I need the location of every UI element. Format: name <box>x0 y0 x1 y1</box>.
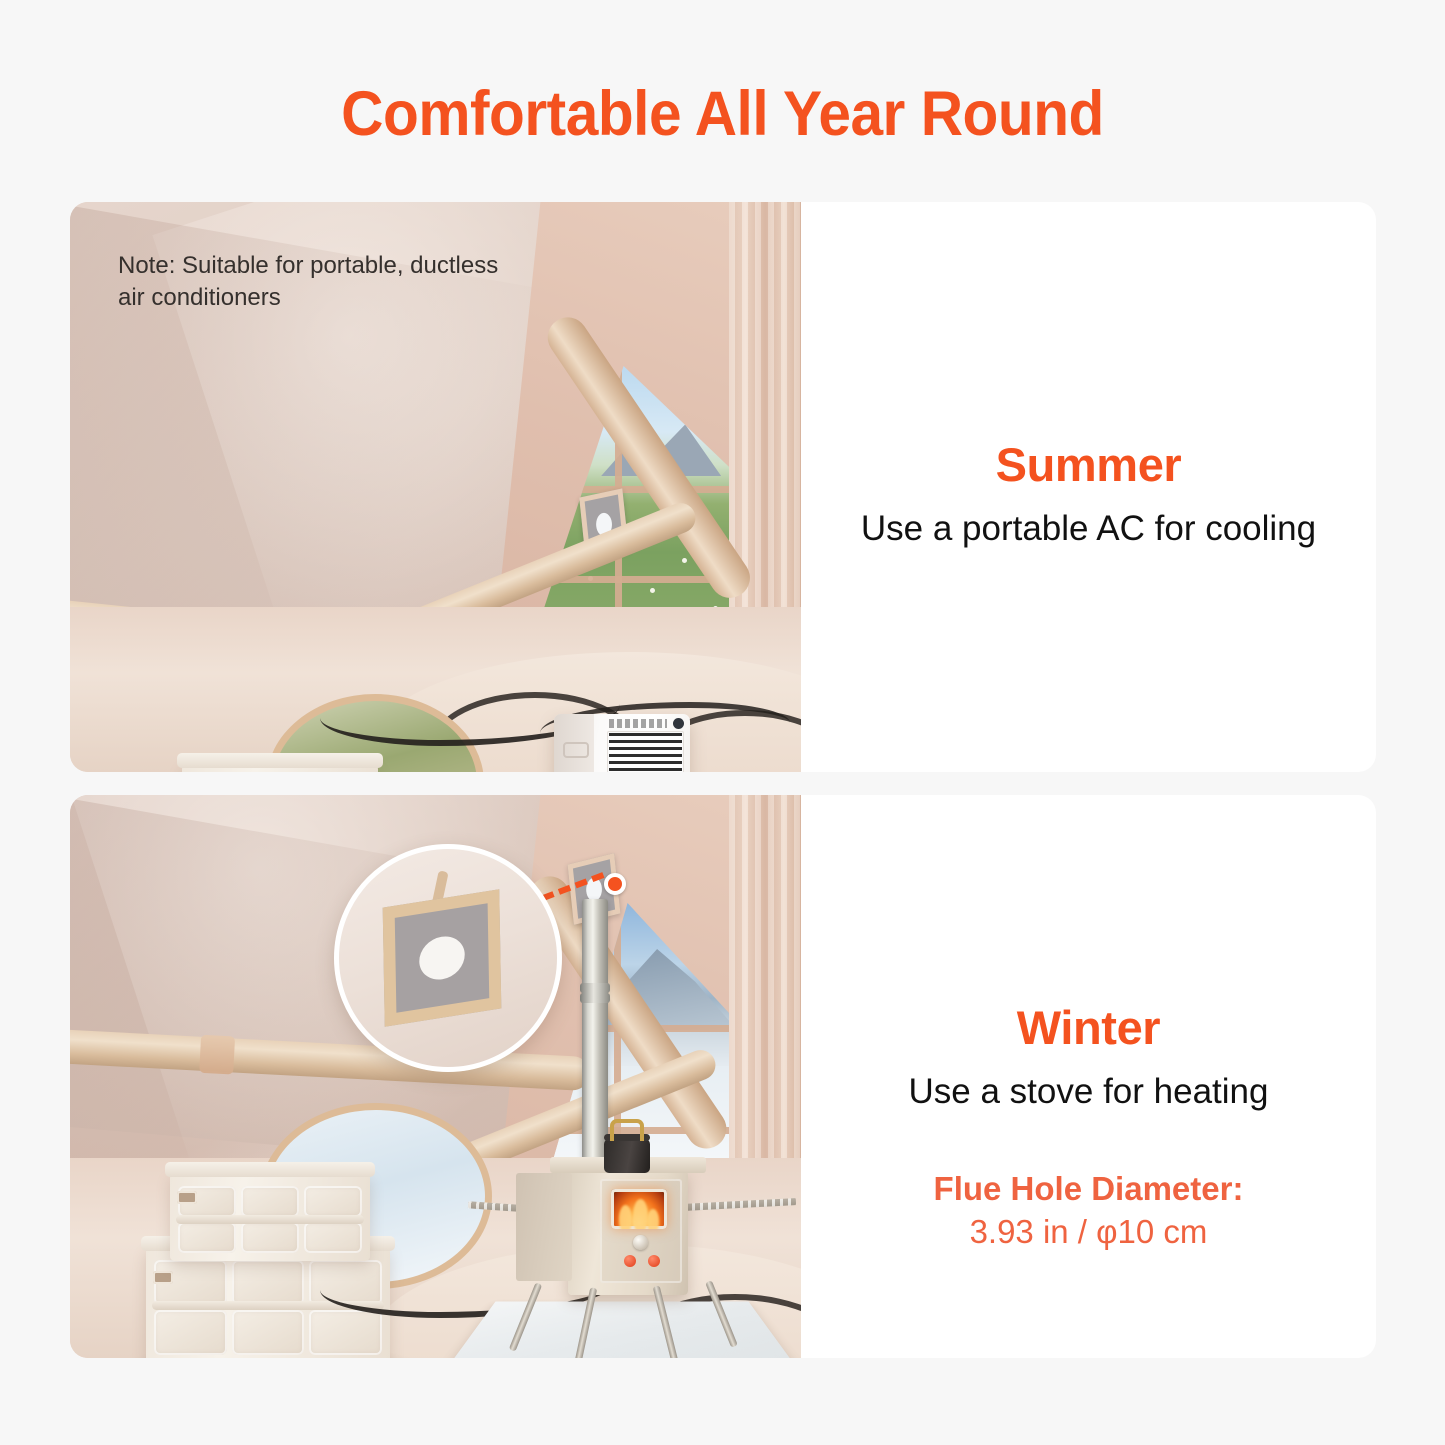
flue-hole-closeup <box>383 889 502 1027</box>
summer-card: Note: Suitable for portable, ductless ai… <box>70 202 1376 772</box>
summer-note: Note: Suitable for portable, ductless ai… <box>118 250 538 313</box>
winter-photo <box>70 795 801 1358</box>
callout-dot-marker <box>604 873 626 895</box>
product-feature-page: Comfortable All Year Round <box>0 0 1445 1445</box>
summer-copy-column: Summer Use a portable AC for cooling <box>801 202 1376 772</box>
summer-note-line-1: Note: Suitable for portable, ductless <box>118 250 538 282</box>
flue-hole-diameter-label: Flue Hole Diameter: <box>801 1168 1376 1211</box>
stove-air-knob <box>633 1235 648 1250</box>
stove-button-right <box>648 1255 660 1267</box>
ac-vent-grille <box>607 731 684 772</box>
stove-button-left <box>624 1255 636 1267</box>
portable-air-conditioner <box>554 714 690 772</box>
beam-strap-winter <box>199 1035 235 1075</box>
tent-stove <box>568 1171 688 1295</box>
summer-photo: Note: Suitable for portable, ductless ai… <box>70 202 801 772</box>
winter-description: Use a stove for heating <box>801 1070 1376 1114</box>
kettle-handle <box>610 1119 644 1141</box>
stove-door <box>600 1179 682 1283</box>
page-title: Comfortable All Year Round <box>51 78 1395 150</box>
summer-note-line-2: air conditioners <box>118 282 538 314</box>
fireproof-mat <box>444 1302 801 1358</box>
winter-card: Winter Use a stove for heating Flue Hole… <box>70 795 1376 1358</box>
storage-crate-top <box>182 764 378 772</box>
flue-hole-magnifier-inset <box>334 844 562 1072</box>
winter-copy-column: Winter Use a stove for heating Flue Hole… <box>801 795 1376 1358</box>
stove-kettle <box>604 1139 650 1173</box>
flue-hole-diameter-value: 3.93 in / φ10 cm <box>801 1211 1376 1254</box>
summer-description: Use a portable AC for cooling <box>801 507 1376 551</box>
stove-fire-window <box>611 1189 667 1229</box>
summer-heading: Summer <box>801 440 1376 489</box>
winter-heading: Winter <box>801 1003 1376 1052</box>
